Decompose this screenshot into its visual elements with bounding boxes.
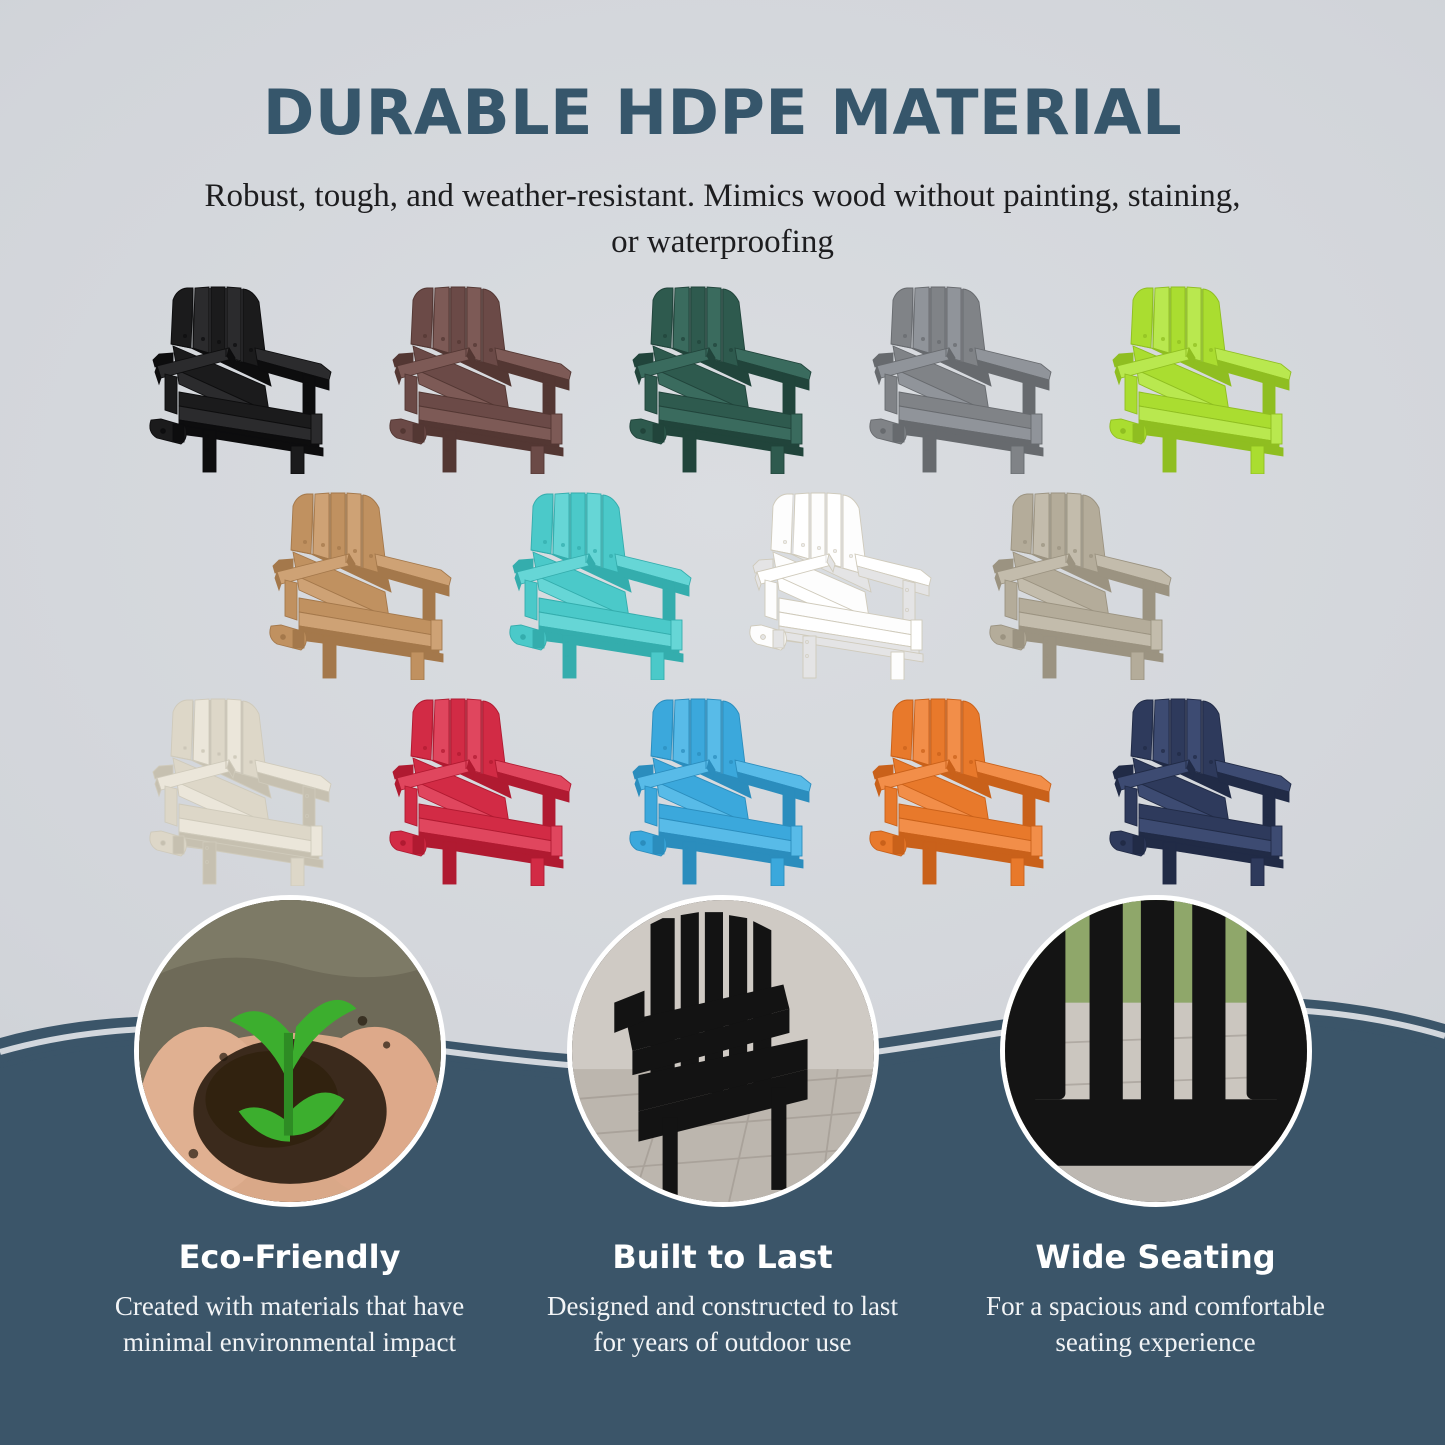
chair-lime-green xyxy=(1103,274,1303,474)
chair-cell-gray[interactable] xyxy=(843,268,1083,480)
wide-seat-closeup-photo xyxy=(1000,895,1312,1207)
page-subtitle: Robust, tough, and weather-resistant. Mi… xyxy=(0,174,1445,265)
chair-cell-dark-green[interactable] xyxy=(603,268,843,480)
feature-description: Created with materials that have minimal… xyxy=(102,1289,477,1360)
chair-navy xyxy=(1103,686,1303,886)
chair-cell-khaki[interactable] xyxy=(963,474,1203,686)
page-title: DURABLE HDPE MATERIAL xyxy=(0,82,1445,144)
header: DURABLE HDPE MATERIAL Robust, tough, and… xyxy=(0,0,1445,265)
chair-cell-red[interactable] xyxy=(363,680,603,892)
infographic-canvas: DURABLE HDPE MATERIAL Robust, tough, and… xyxy=(0,0,1445,1445)
chair-cell-orange[interactable] xyxy=(843,680,1083,892)
chair-cell-brown[interactable] xyxy=(363,268,603,480)
chair-teak xyxy=(263,480,463,680)
feature-title: Wide Seating xyxy=(1035,1241,1275,1273)
chair-row-3 xyxy=(0,680,1445,892)
chair-cell-white[interactable] xyxy=(723,474,963,686)
chair-dark-green xyxy=(623,274,823,474)
chair-turquoise xyxy=(503,480,703,680)
feature-title: Eco-Friendly xyxy=(179,1241,401,1273)
feature-list: Eco-FriendlyCreated with materials that … xyxy=(0,895,1445,1360)
feature-description: For a spacious and comfortable seating e… xyxy=(968,1289,1343,1360)
chair-cell-ivory[interactable] xyxy=(123,680,363,892)
chair-white xyxy=(743,480,943,680)
chair-cell-teak[interactable] xyxy=(243,474,483,686)
chair-brown xyxy=(383,274,583,474)
chair-sky-blue xyxy=(623,686,823,886)
chair-red xyxy=(383,686,583,886)
chair-cell-black[interactable] xyxy=(123,268,363,480)
chair-khaki xyxy=(983,480,1183,680)
chair-black xyxy=(143,274,343,474)
feature-title: Built to Last xyxy=(612,1241,832,1273)
chair-cell-lime-green[interactable] xyxy=(1083,268,1323,480)
black-chair-on-patio-photo xyxy=(567,895,879,1207)
feature-3: Wide SeatingFor a spacious and comfortab… xyxy=(968,895,1343,1360)
hands-holding-seedling-photo xyxy=(134,895,446,1207)
chair-gray xyxy=(863,274,1063,474)
chair-color-grid xyxy=(0,268,1445,892)
feature-1: Eco-FriendlyCreated with materials that … xyxy=(102,895,477,1360)
chair-cell-navy[interactable] xyxy=(1083,680,1323,892)
chair-row-1 xyxy=(0,268,1445,480)
chair-cell-sky-blue[interactable] xyxy=(603,680,843,892)
feature-2: Built to LastDesigned and constructed to… xyxy=(535,895,910,1360)
chair-row-2 xyxy=(0,474,1445,686)
chair-orange xyxy=(863,686,1063,886)
chair-ivory xyxy=(143,686,343,886)
feature-description: Designed and constructed to last for yea… xyxy=(535,1289,910,1360)
chair-cell-turquoise[interactable] xyxy=(483,474,723,686)
